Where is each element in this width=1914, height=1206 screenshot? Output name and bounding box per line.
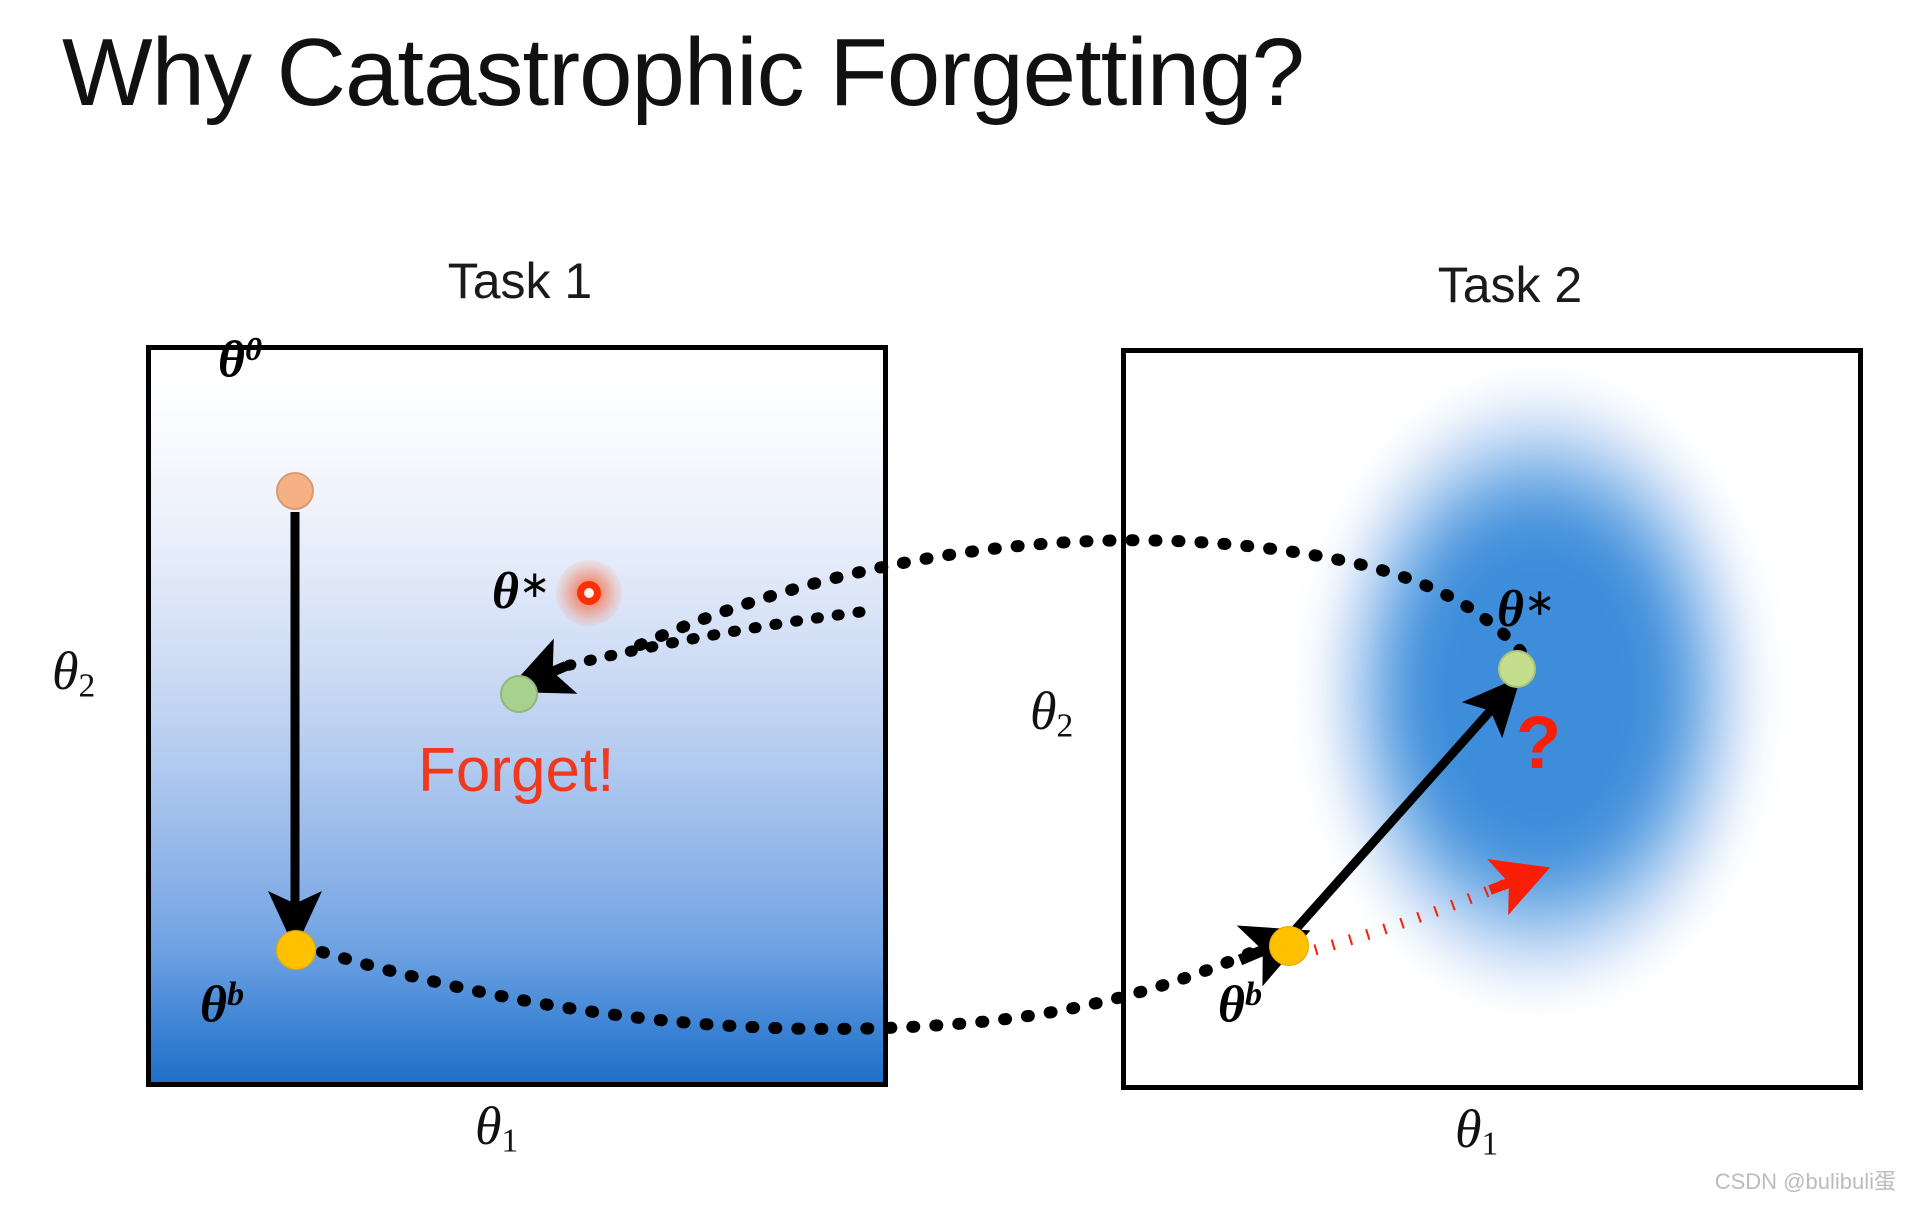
theta-b-label-task1: θb [200, 975, 244, 1034]
theta-zero-label-task1: θ0 [218, 330, 262, 389]
theta-star-dot-task2 [1498, 650, 1536, 688]
task1-loss-surface-panel [146, 345, 888, 1087]
task1-y-axis-label: θ2 [52, 640, 95, 705]
task2-panel-title: Task 2 [1380, 256, 1640, 314]
task1-x-axis-label: θ1 [475, 1095, 518, 1160]
task1-panel-title: Task 1 [390, 252, 650, 310]
theta-star-dot-task1 [500, 675, 538, 713]
forget-callout-text: Forget! [418, 735, 614, 806]
forget-red-marker-dot [556, 560, 622, 626]
slide-canvas: Why Catastrophic Forgetting? Task 1 Task… [0, 0, 1914, 1206]
task2-x-axis-label: θ1 [1455, 1098, 1498, 1163]
theta-initial-dot-task1 [276, 472, 314, 510]
red-ring-icon [577, 581, 601, 605]
csdn-watermark: CSDN @bulibuli蛋 [1715, 1164, 1896, 1196]
theta-star-label-task1: θ∗ [492, 562, 550, 621]
theta-b-dot-task2 [1269, 926, 1309, 966]
page-title: Why Catastrophic Forgetting? [62, 18, 1304, 128]
task2-y-axis-label: θ2 [1030, 680, 1073, 745]
task2-gaussian-blob [1304, 371, 1774, 1011]
question-mark-callout: ? [1516, 700, 1561, 785]
theta-b-label-task2: θb [1218, 975, 1262, 1034]
theta-star-label-task2: θ∗ [1497, 580, 1555, 639]
theta-b-dot-task1 [276, 930, 316, 970]
